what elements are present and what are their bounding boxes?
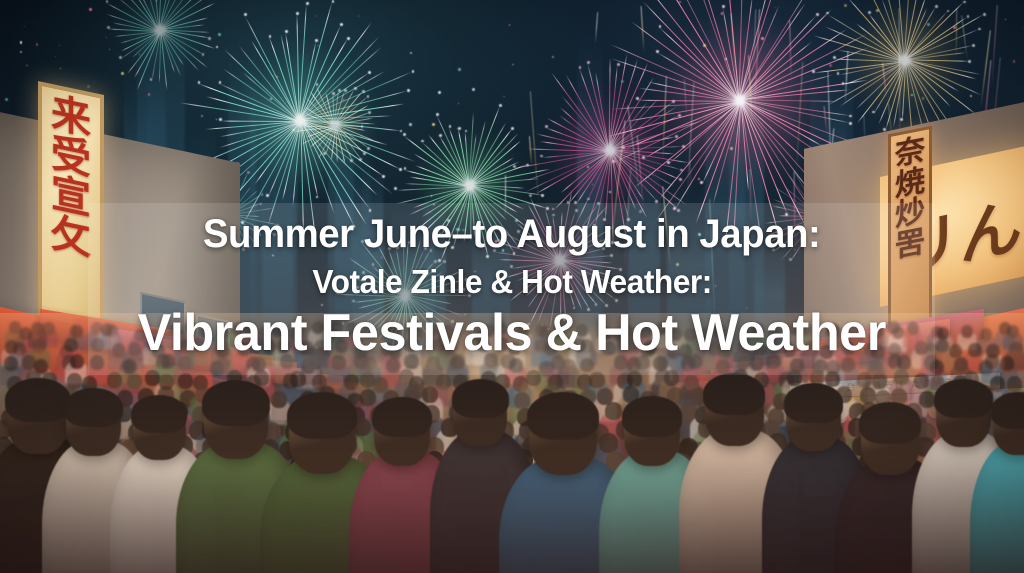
- ember-spark: [679, 1, 681, 3]
- ember-spark: [121, 72, 124, 75]
- ember-spark: [592, 184, 594, 186]
- firework-trail: [789, 20, 792, 84]
- person-hair: [64, 388, 122, 428]
- ember-spark: [703, 44, 705, 46]
- ember-spark: [409, 123, 412, 126]
- person-hair: [527, 392, 599, 441]
- ember-spark: [156, 0, 157, 1]
- firework-trail: [662, 76, 667, 163]
- ember-spark: [761, 37, 764, 40]
- title-overlay: Summer June–to August in Japan: Votale Z…: [0, 196, 1024, 386]
- ember-spark: [1022, 27, 1023, 28]
- firework-trail: [955, 8, 957, 58]
- ember-spark: [317, 45, 319, 47]
- ember-spark: [457, 128, 458, 129]
- ember-spark: [911, 94, 913, 96]
- firework-trail: [796, 62, 803, 175]
- ember-spark: [458, 103, 459, 104]
- ember-spark: [106, 37, 107, 38]
- ember-spark: [342, 159, 344, 161]
- ember-spark: [721, 12, 723, 14]
- person-hair: [372, 397, 432, 437]
- ember-spark: [829, 64, 832, 67]
- ember-spark: [55, 56, 57, 58]
- ember-spark: [20, 41, 22, 43]
- ember-spark: [87, 85, 90, 88]
- firework-trail: [882, 63, 887, 98]
- ember-spark: [361, 136, 363, 138]
- person-hair: [859, 402, 922, 444]
- person-hair: [784, 383, 842, 423]
- firework-trail: [748, 55, 753, 130]
- ember-spark: [730, 147, 733, 150]
- ember-spark: [216, 46, 218, 48]
- ember-spark: [216, 119, 217, 120]
- title-line-2: Votale Zinle & Hot Weather:: [312, 260, 712, 304]
- ember-spark: [1013, 60, 1015, 62]
- person-hair: [131, 395, 187, 433]
- ember-spark: [458, 68, 461, 71]
- ember-spark: [652, 174, 653, 175]
- ember-spark: [552, 56, 554, 58]
- firework-trail: [594, 12, 597, 44]
- ember-spark: [270, 98, 272, 100]
- firework-trail: [844, 51, 848, 106]
- ember-spark: [89, 8, 92, 11]
- ember-spark: [927, 23, 930, 26]
- ember-spark: [512, 64, 514, 66]
- ember-spark: [36, 43, 39, 46]
- ember-spark: [609, 191, 611, 193]
- ember-spark: [844, 4, 847, 7]
- ember-spark: [60, 68, 61, 69]
- ember-spark: [438, 91, 441, 94]
- ember-spark: [24, 26, 25, 27]
- ember-spark: [472, 88, 475, 91]
- ember-spark: [876, 9, 879, 12]
- ember-spark: [276, 76, 278, 78]
- ember-spark: [587, 166, 588, 167]
- ember-spark: [621, 80, 624, 83]
- ember-spark: [1005, 19, 1006, 20]
- ember-spark: [922, 97, 924, 99]
- firework-trail: [730, 13, 736, 78]
- ember-spark: [139, 54, 140, 55]
- ember-spark: [432, 123, 435, 126]
- ember-spark: [509, 24, 510, 25]
- ember-spark: [148, 93, 150, 95]
- firework-trail: [824, 106, 828, 135]
- ember-spark: [698, 178, 700, 180]
- ember-spark: [342, 99, 345, 102]
- firework-trail: [529, 136, 532, 166]
- firework-trail: [684, 79, 688, 117]
- ember-spark: [109, 49, 110, 50]
- ember-spark: [302, 120, 303, 121]
- ember-spark: [725, 58, 727, 60]
- ember-spark: [358, 15, 359, 16]
- firework-trail: [899, 8, 901, 145]
- title-line-1: Summer June–to August in Japan:: [203, 208, 820, 260]
- ember-spark: [273, 75, 274, 76]
- title-line-3: Vibrant Festivals & Hot Weather: [138, 302, 886, 364]
- firework-trail: [961, 16, 968, 62]
- person-hair: [991, 392, 1024, 429]
- firework-trail: [991, 5, 998, 89]
- ember-spark: [218, 33, 221, 36]
- ember-spark: [20, 51, 22, 53]
- ember-spark: [503, 96, 504, 97]
- ember-spark: [316, 15, 317, 16]
- ember-spark: [284, 112, 285, 113]
- crowd-person-foreground: [980, 394, 1024, 573]
- person-hair: [202, 380, 270, 426]
- festival-hero-image: 来受宣攵 リん 奈焼炒罟 屋台 焼きそば たこ焼き Summer June–to…: [0, 0, 1024, 573]
- ember-spark: [5, 98, 8, 101]
- ember-spark: [775, 7, 777, 9]
- person-hair: [622, 396, 682, 436]
- ember-spark: [59, 45, 60, 46]
- firework-trail: [530, 91, 540, 205]
- ember-spark: [970, 95, 972, 97]
- firework-trail: [641, 6, 645, 53]
- ember-spark: [26, 65, 28, 67]
- ember-spark: [201, 115, 203, 117]
- ember-spark: [410, 52, 413, 55]
- firework-trail: [690, 160, 693, 192]
- person-hair: [287, 392, 358, 440]
